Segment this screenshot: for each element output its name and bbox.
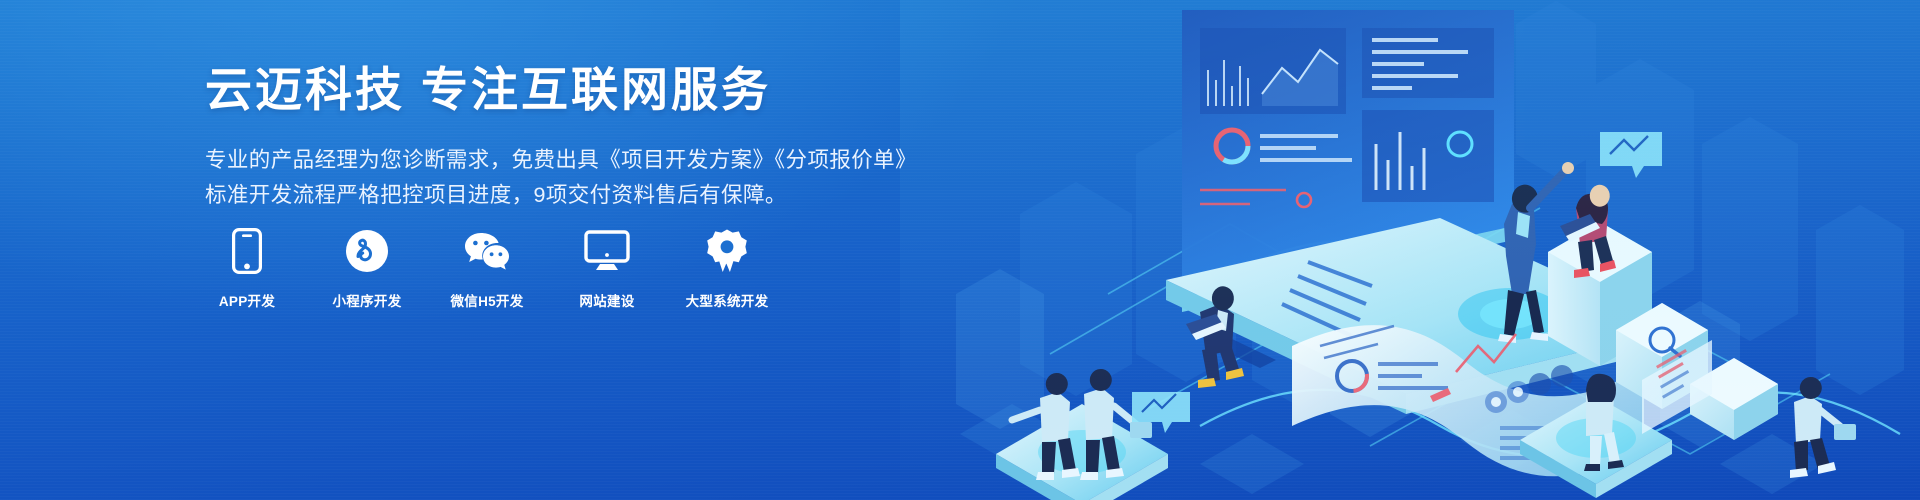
mini-program-icon bbox=[345, 228, 389, 274]
hero-subtitle: 专业的产品经理为您诊断需求，免费出具《项目开发方案》《分项报价单》 标准开发流程… bbox=[205, 143, 905, 213]
service-item-large-system[interactable]: 大型系统开发 bbox=[685, 228, 769, 310]
gear-icon bbox=[705, 228, 749, 274]
service-item-wechat-h5[interactable]: 微信H5开发 bbox=[445, 228, 529, 310]
monitor-icon bbox=[584, 228, 630, 274]
mobile-phone-icon bbox=[232, 228, 262, 274]
service-label-large-system: 大型系统开发 bbox=[686, 290, 769, 310]
hero-banner: 云迈科技 专注互联网服务 专业的产品经理为您诊断需求，免费出具《项目开发方案》《… bbox=[0, 0, 1920, 500]
wechat-icon bbox=[463, 228, 511, 274]
service-label-wechat-h5: 微信H5开发 bbox=[450, 290, 523, 310]
service-icon-row: APP开发 小程序开发 微信 bbox=[205, 228, 769, 310]
service-label-website: 网站建设 bbox=[579, 290, 634, 310]
service-item-website[interactable]: 网站建设 bbox=[565, 228, 649, 310]
subtitle-line-1: 专业的产品经理为您诊断需求，免费出具《项目开发方案》《分项报价单》 bbox=[205, 143, 905, 178]
service-item-mini-program[interactable]: 小程序开发 bbox=[325, 228, 409, 310]
service-item-app[interactable]: APP开发 bbox=[205, 228, 289, 310]
service-label-app: APP开发 bbox=[219, 290, 275, 310]
hero-text-block: 云迈科技 专注互联网服务 专业的产品经理为您诊断需求，免费出具《项目开发方案》《… bbox=[205, 62, 905, 213]
page-title: 云迈科技 专注互联网服务 bbox=[205, 62, 905, 117]
isometric-tech-team-illustration bbox=[900, 0, 1920, 500]
service-label-mini-program: 小程序开发 bbox=[333, 290, 402, 310]
subtitle-line-2: 标准开发流程严格把控项目进度，9项交付资料售后有保障。 bbox=[205, 178, 905, 213]
